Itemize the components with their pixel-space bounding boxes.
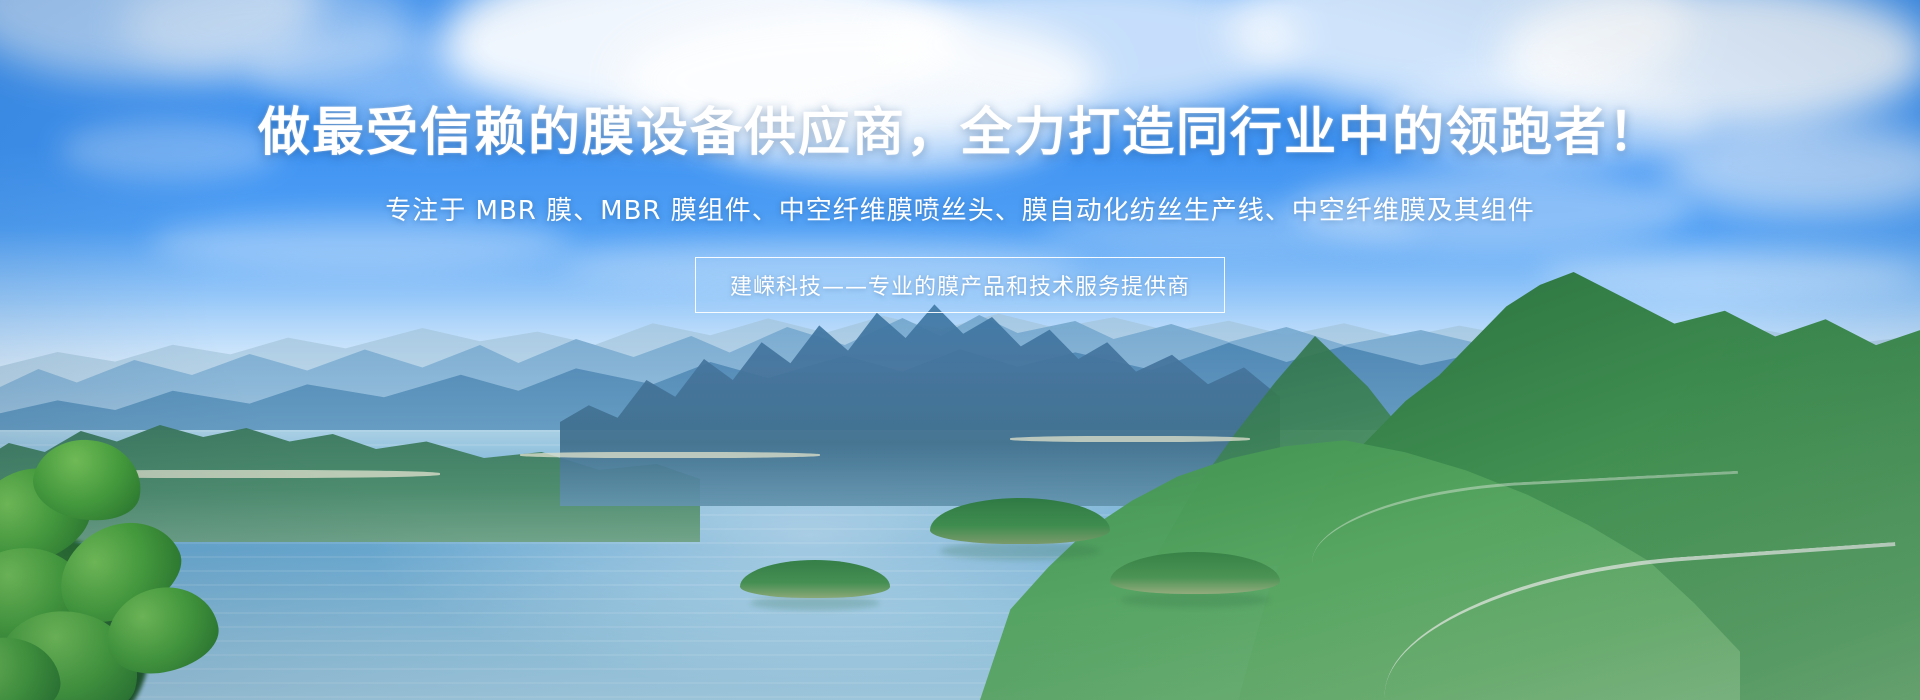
banner-tagline-box: 建嵘科技——专业的膜产品和技术服务提供商 [695, 257, 1225, 313]
banner-headline: 做最受信赖的膜设备供应商，全力打造同行业中的领跑者！ [258, 104, 1662, 162]
banner-subtitle: 专注于 MBR 膜、MBR 膜组件、中空纤维膜喷丝头、膜自动化纺丝生产线、中空纤… [385, 190, 1534, 227]
banner-text-overlay: 做最受信赖的膜设备供应商，全力打造同行业中的领跑者！ 专注于 MBR 膜、MBR… [0, 0, 1920, 700]
hero-banner: 做最受信赖的膜设备供应商，全力打造同行业中的领跑者！ 专注于 MBR 膜、MBR… [0, 0, 1920, 700]
